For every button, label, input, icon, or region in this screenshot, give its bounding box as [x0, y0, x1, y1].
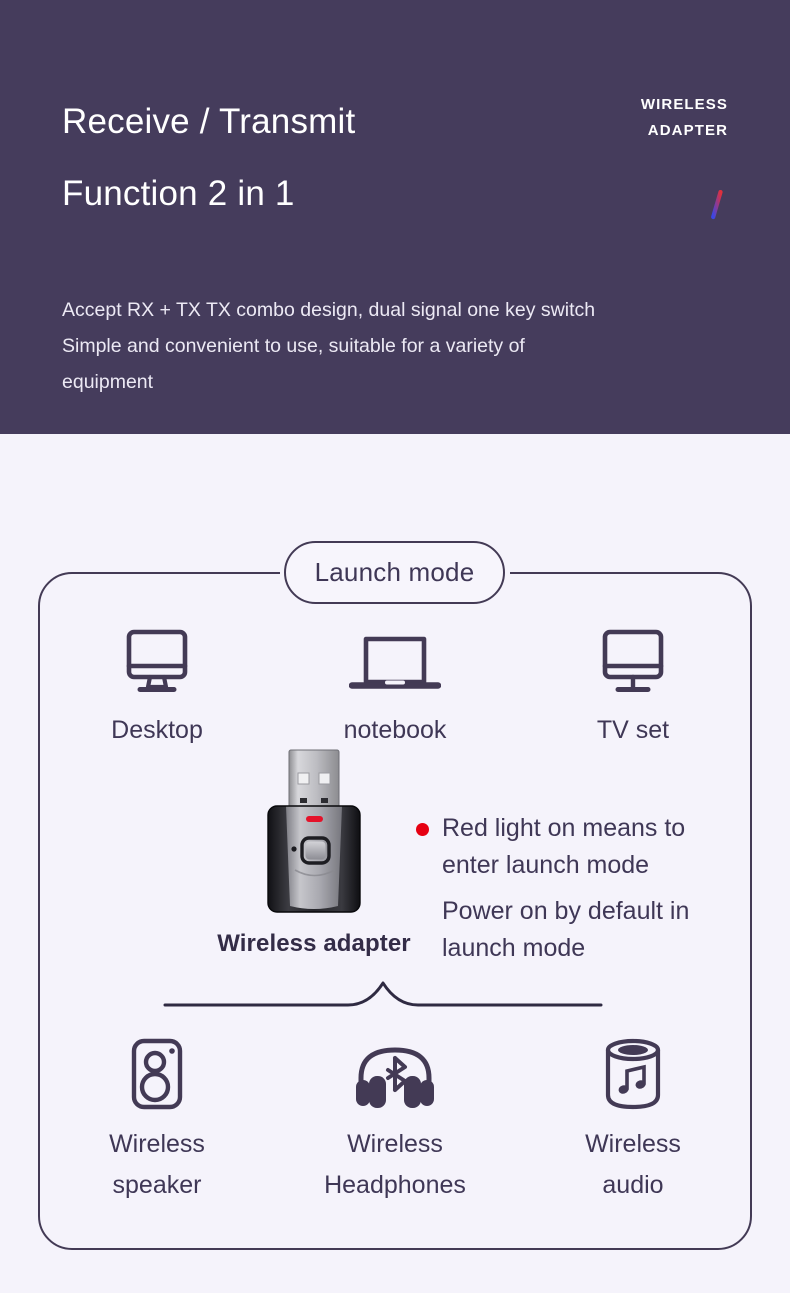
note-text: Red light on means to enter launch mode	[442, 814, 685, 879]
source-device-label: notebook	[344, 710, 447, 750]
note-red-light: Red light on means to enter launch mode	[412, 810, 732, 884]
output-device-label: Wireless Headphones	[324, 1124, 466, 1206]
red-led-bullet-icon	[416, 823, 429, 836]
note-power-default: Power on by default in launch mode	[412, 893, 732, 967]
output-device-audio: Wireless audio	[514, 1036, 752, 1206]
brace-divider	[163, 975, 603, 1009]
launch-mode-badge-label: Launch mode	[315, 557, 475, 588]
output-device-speaker: Wireless speaker	[38, 1036, 276, 1206]
output-devices-row: Wireless speaker Wireless Headphones	[38, 1036, 752, 1206]
usb-wireless-adapter	[262, 748, 366, 914]
source-device-label: TV set	[597, 710, 669, 750]
header-description: Accept RX + TX TX combo design, dual sig…	[62, 292, 742, 400]
launch-mode-badge: Launch mode	[284, 541, 505, 604]
output-device-headphones: Wireless Headphones	[276, 1036, 514, 1206]
source-device-notebook: notebook	[276, 624, 514, 750]
brand-label: WIRELESS ADAPTER	[641, 92, 728, 144]
source-device-desktop: Desktop	[38, 624, 276, 750]
product-infographic: Receive / Transmit Function 2 in 1 WIREL…	[0, 0, 790, 1293]
header-banner: Receive / Transmit Function 2 in 1 WIREL…	[0, 0, 790, 434]
output-device-label: Wireless speaker	[109, 1124, 205, 1206]
launch-mode-notes: Red light on means to enter launch mode …	[412, 810, 732, 967]
source-device-tv: TV set	[514, 624, 752, 750]
note-text: Power on by default in launch mode	[442, 897, 689, 962]
brand-slash-mark	[710, 190, 724, 220]
brand-label-line1: WIRELESS	[641, 92, 728, 118]
source-device-label: Desktop	[111, 710, 203, 750]
desktop-monitor-icon	[120, 624, 194, 696]
brand-label-line2: ADAPTER	[641, 118, 728, 144]
laptop-icon	[349, 624, 441, 696]
page-title: Receive / Transmit Function 2 in 1	[62, 86, 602, 230]
tv-icon	[596, 624, 670, 696]
wireless-speaker-icon	[130, 1036, 184, 1112]
source-devices-row: Desktop notebook	[38, 624, 752, 750]
output-device-label: Wireless audio	[585, 1124, 681, 1206]
wireless-audio-cylinder-icon	[603, 1036, 663, 1112]
bluetooth-headphones-icon	[352, 1036, 438, 1112]
